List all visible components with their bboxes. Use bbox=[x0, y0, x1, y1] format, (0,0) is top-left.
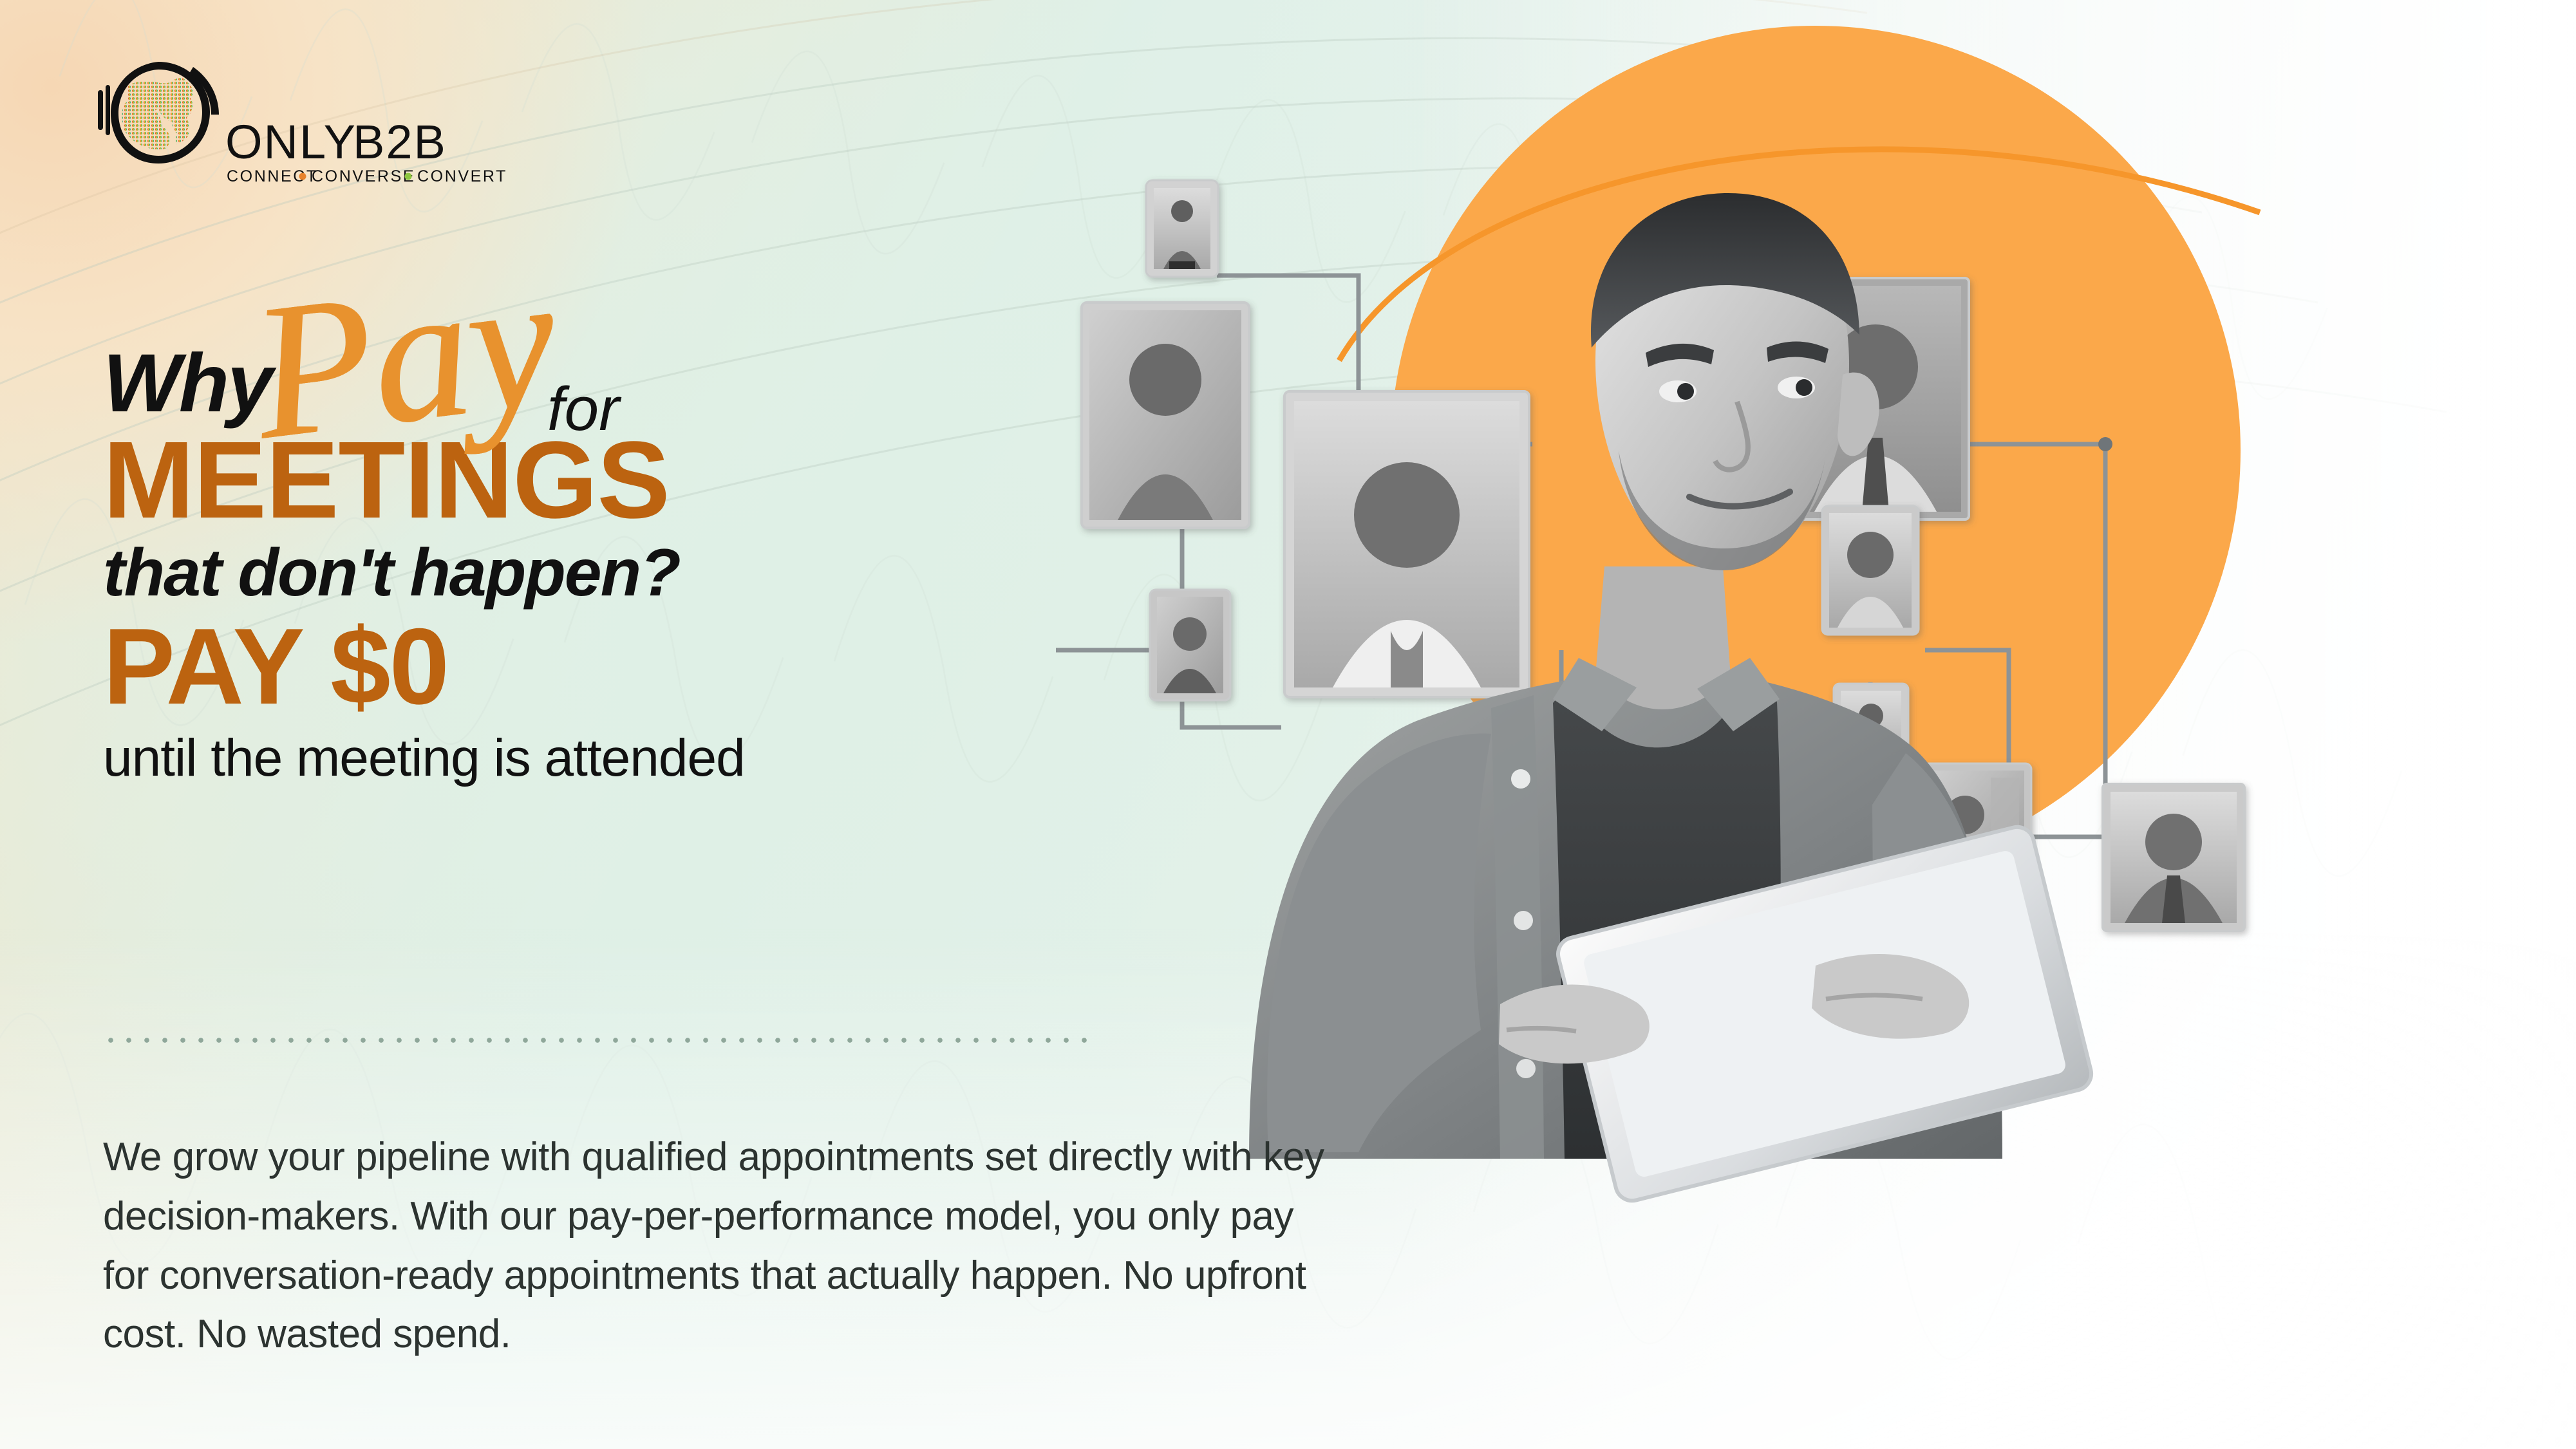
headline-block: Why Pay for MEETINGS that don't happen? … bbox=[103, 309, 1082, 787]
logo-wordmark-b2b: B2B bbox=[353, 115, 447, 169]
headline-why: Why bbox=[103, 342, 271, 425]
headline-line-why: Why Pay for bbox=[103, 309, 1082, 438]
logo-svg: ONLY B2B CONNECT CONVERSE CONVERT bbox=[97, 50, 509, 189]
brand-logo[interactable]: ONLY B2B CONNECT CONVERSE CONVERT bbox=[97, 50, 509, 189]
headline-pay-zero: PAY $0 bbox=[103, 612, 1082, 720]
tagline-dot-orange-icon bbox=[299, 173, 306, 180]
headline-for: for bbox=[547, 379, 619, 440]
headline-pay-script: Pay bbox=[243, 241, 565, 470]
headline-until: until the meeting is attended bbox=[103, 729, 1082, 787]
dotted-divider bbox=[102, 1035, 1093, 1045]
tagline-dot-green-icon bbox=[405, 173, 412, 180]
dotted-world-map-icon bbox=[122, 77, 196, 153]
headline-meetings: MEETINGS bbox=[103, 429, 1082, 533]
headline-question: that don't happen? bbox=[103, 538, 1082, 608]
logo-tagline-convert: CONVERT bbox=[417, 167, 507, 185]
logo-wordmark-only: ONLY bbox=[225, 115, 357, 169]
logo-tagline-converse: CONVERSE bbox=[312, 167, 415, 185]
body-paragraph: We grow your pipeline with qualified app… bbox=[103, 1128, 1326, 1364]
marketing-banner: ONLY B2B CONNECT CONVERSE CONVERT Why Pa… bbox=[0, 0, 2576, 1449]
